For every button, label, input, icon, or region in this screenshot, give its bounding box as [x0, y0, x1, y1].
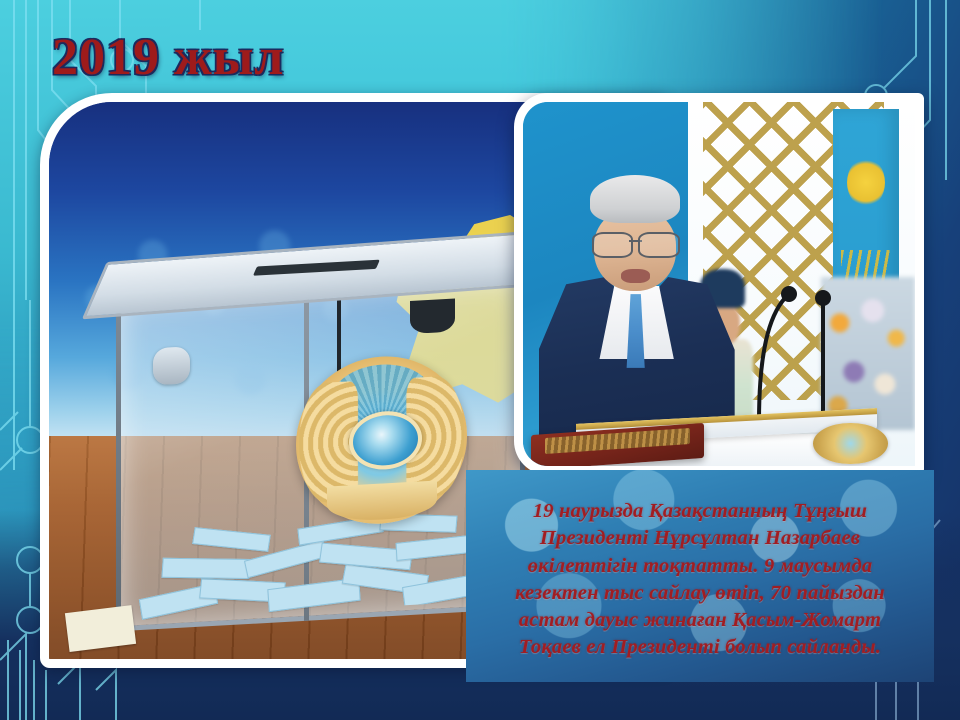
caption-line: Президенті Нұрсұлтан Назарбаев	[466, 525, 934, 552]
caption-line: өкілеттігін тоқтатты. 9 маусымда	[466, 553, 934, 580]
caption-line: астам дауыс жинаған Қасым-Жомарт	[466, 607, 934, 634]
speaking-podium	[531, 386, 907, 466]
inauguration-photo	[514, 93, 924, 475]
page-title: 2019 жыл	[52, 28, 284, 87]
ballot-box-edge-left	[116, 297, 121, 631]
caption-text: 19 наурызда Қазақстанның Тұңғыш Президен…	[466, 498, 934, 662]
podium-state-emblem-icon	[813, 423, 888, 465]
ballot-box	[116, 274, 525, 631]
kazakhstan-state-emblem-icon	[296, 351, 468, 528]
microphone-head-icon	[815, 290, 831, 306]
ballot-paper	[192, 527, 271, 551]
caption-line: 19 наурызда Қазақстанның Тұңғыш	[466, 498, 934, 525]
slide-root: 2019 жыл	[0, 0, 960, 720]
ballot-box-handle	[153, 347, 190, 386]
fallen-paper	[65, 605, 136, 652]
caption-line: Тоқаев ел Президенті болып сайланды.	[466, 634, 934, 661]
emblem-base	[327, 480, 437, 523]
microphone-head-icon	[781, 286, 797, 302]
ballot-paper	[162, 558, 252, 579]
caption-line: кезектен тыс сайлау өтіп, 70 пайыздан	[466, 580, 934, 607]
